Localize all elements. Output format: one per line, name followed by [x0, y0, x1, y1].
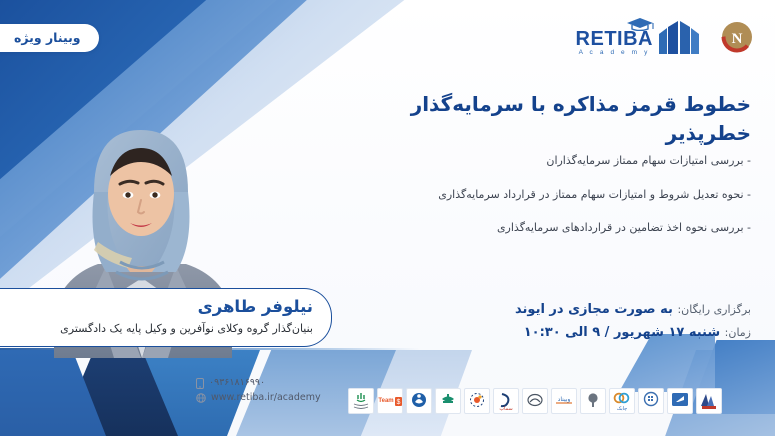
phone-number: ۰۹۳۶۱۸۱۶۹۹۰: [209, 376, 265, 391]
webinar-badge: وبینار ویژه: [0, 24, 99, 52]
partner-logo-10: [435, 388, 461, 414]
list-item: - بررسی امتیازات سهام ممتاز سرمایه‌گذارا…: [375, 152, 751, 170]
contact-info: ۰۹۳۶۱۸۱۶۹۹۰ www.retiba.ir/academy: [196, 376, 321, 405]
logo-row: N RETIBA A c a d e m y: [576, 18, 757, 58]
website-url[interactable]: www.retiba.ir/academy: [211, 391, 321, 406]
svg-text:سماپ: سماپ: [499, 406, 512, 412]
retiba-building-icon: [657, 20, 703, 56]
page-title: خطوط قرمز مذاکره با سرمایه‌گذار خطرپذیر: [359, 90, 751, 148]
partner-logo-9: [464, 388, 490, 414]
bullet-list: - بررسی امتیازات سهام ممتاز سرمایه‌گذارا…: [375, 152, 751, 253]
event-mode-line: برگزاری رایگان: به صورت مجازی در ایوند: [401, 298, 751, 321]
speaker-name: نیلوفر طاهری: [0, 297, 313, 318]
globe-icon: [196, 393, 206, 403]
svg-text:$: $: [396, 399, 400, 406]
partner-logo-4: چابک: [609, 388, 635, 414]
partner-logo-13: [348, 388, 374, 414]
partner-logo-12: $ Team: [377, 388, 403, 414]
retiba-subtitle: A c a d e m y: [576, 50, 653, 57]
partner-logo-1: [696, 388, 722, 414]
graduation-cap-icon: [625, 18, 655, 31]
partner-logo-7: [522, 388, 548, 414]
event-time-label: زمان:: [725, 326, 751, 339]
list-item: - بررسی نحوه اخذ تضامین در قراردادهای سر…: [375, 219, 751, 237]
speaker-card: نیلوفر طاهری بنیان‌گذار گروه وکلای نوآفر…: [0, 288, 332, 347]
partner-logo-8: سماپ: [493, 388, 519, 414]
svg-text:N: N: [732, 31, 743, 47]
svg-text:وبیناد: وبیناد: [558, 396, 571, 403]
speaker-title: بنیان‌گذار گروه وکلای نوآفرین و وکیل پای…: [0, 321, 313, 336]
partner-logo-6: وبیناد: [551, 388, 577, 414]
event-time-line: زمان: شنبه ۱۷ شهریور / ۹ الی ۱۰:۳۰: [401, 321, 751, 344]
phone-icon: [196, 378, 204, 389]
webinar-banner: وبینار ویژه N: [0, 0, 775, 436]
partner-logo-strip: چابک وبیناد سماپ: [348, 388, 722, 414]
event-time-value: شنبه ۱۷ شهریور / ۹ الی ۱۰:۳۰: [524, 325, 720, 340]
contact-phone-line: ۰۹۳۶۱۸۱۶۹۹۰: [196, 376, 321, 391]
partner-logo-2: [667, 388, 693, 414]
partner-logo-11: [406, 388, 432, 414]
nik-monogram-icon: N: [717, 18, 757, 58]
contact-website-line[interactable]: www.retiba.ir/academy: [196, 391, 321, 406]
event-mode-label: برگزاری رایگان:: [677, 303, 751, 316]
event-mode-value: به صورت مجازی در ایوند: [515, 302, 673, 317]
list-item: - نحوه تعدیل شروط و امتیازات سهام ممتاز …: [375, 186, 751, 204]
event-details: برگزاری رایگان: به صورت مجازی در ایوند ز…: [401, 298, 751, 345]
partner-logo-5: [580, 388, 606, 414]
partner-logo-3: [638, 388, 664, 414]
retiba-academy-logo: RETIBA A c a d e m y: [576, 20, 703, 56]
partner-logo-12-label: Team: [378, 398, 393, 404]
svg-text:چابک: چابک: [617, 406, 627, 412]
retiba-wordmark: RETIBA: [576, 29, 653, 49]
